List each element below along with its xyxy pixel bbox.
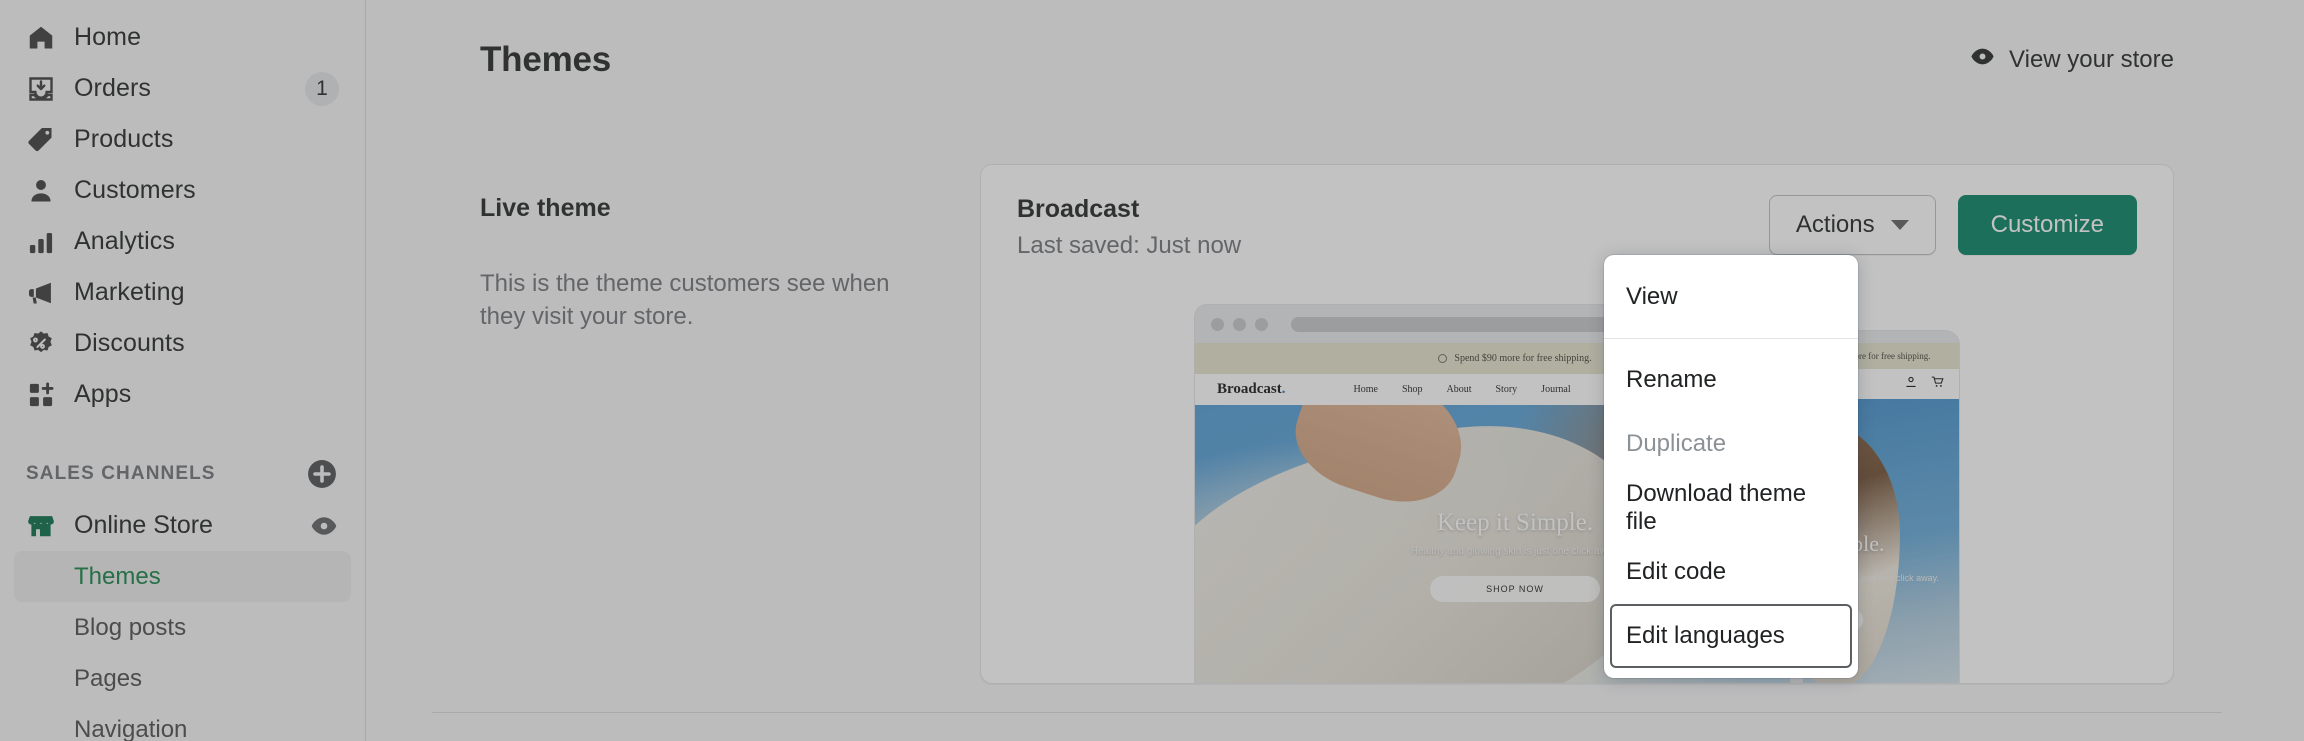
menu-separator [1604, 338, 1858, 339]
menu-item-label: Edit languages [1626, 622, 1785, 650]
menu-item-view[interactable]: View [1604, 265, 1858, 329]
menu-item-rename[interactable]: Rename [1604, 348, 1858, 412]
menu-item-download-theme-file[interactable]: Download theme file [1604, 476, 1858, 540]
menu-item-label: Edit code [1626, 558, 1726, 586]
menu-item-label: Duplicate [1626, 430, 1726, 458]
app-root: Home Orders 1 Products Customers [0, 0, 2304, 741]
actions-menu-popover: View Rename Duplicate Download theme fil… [1604, 255, 1858, 678]
menu-item-edit-languages[interactable]: Edit languages [1610, 604, 1852, 668]
menu-item-label: Download theme file [1626, 480, 1836, 536]
menu-item-duplicate: Duplicate [1604, 412, 1858, 476]
menu-item-label: Rename [1626, 366, 1717, 394]
menu-item-label: View [1626, 283, 1678, 311]
menu-item-edit-code[interactable]: Edit code [1604, 540, 1858, 604]
modal-overlay[interactable] [0, 0, 2304, 741]
